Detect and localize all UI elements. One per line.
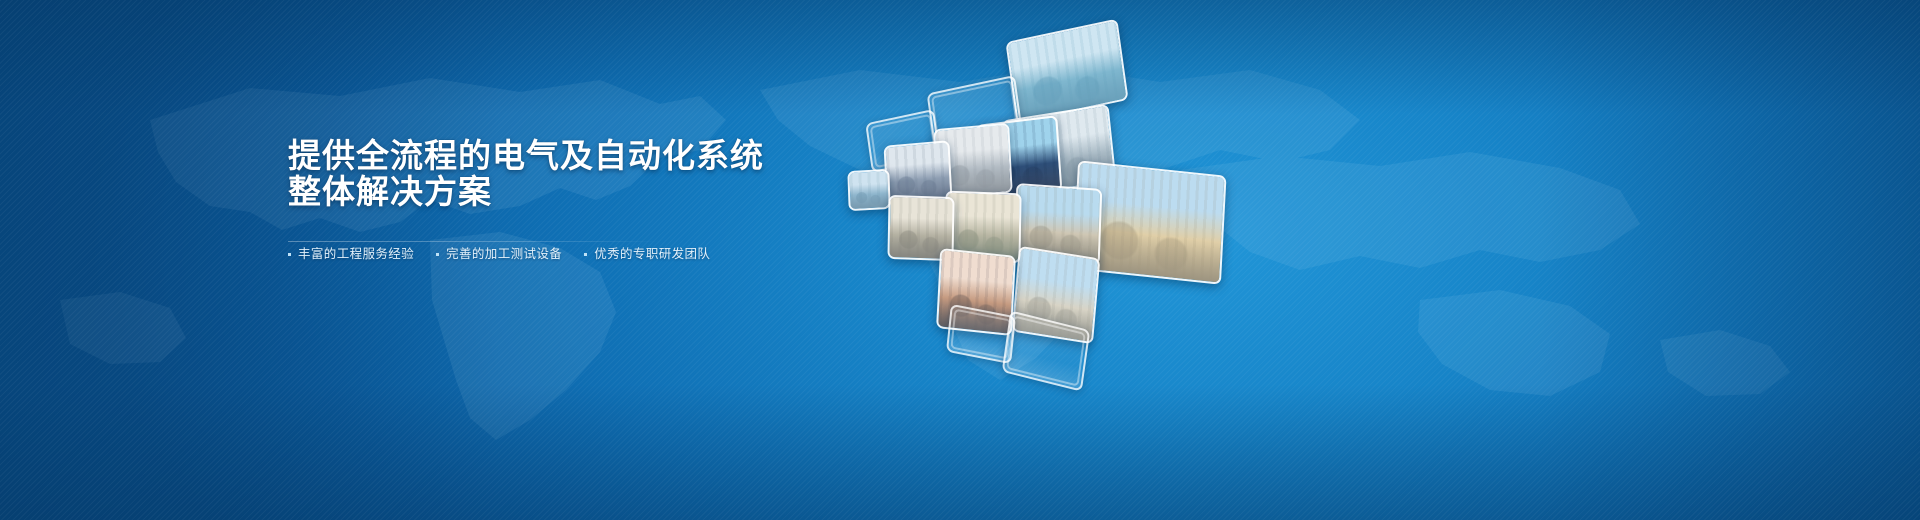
feature-item: 优秀的专职研发团队 — [584, 246, 710, 262]
bullet-dot-icon — [288, 253, 291, 256]
page-title: 提供全流程的电气及自动化系统 整体解决方案 — [288, 138, 848, 210]
collage-tile-transmission-tower — [847, 169, 890, 211]
tile-photo-texture — [849, 171, 888, 209]
tile-empty-surface — [1006, 315, 1086, 386]
tile-empty-surface — [950, 309, 1011, 360]
headline-line-1: 提供全流程的电气及自动化系统 — [288, 138, 848, 174]
tile-photo — [1008, 21, 1127, 121]
feature-item: 完善的加工测试设备 — [436, 246, 562, 262]
feature-label: 完善的加工测试设备 — [446, 246, 562, 262]
headline-block: 提供全流程的电气及自动化系统 整体解决方案 — [288, 138, 848, 210]
feature-item: 丰富的工程服务经验 — [288, 246, 414, 262]
hero-banner: 提供全流程的电气及自动化系统 整体解决方案 丰富的工程服务经验完善的加工测试设备… — [0, 0, 1920, 520]
bullet-dot-icon — [436, 253, 439, 256]
collage-tile-wind-farm — [1005, 19, 1128, 124]
divider — [288, 241, 660, 242]
feature-label: 丰富的工程服务经验 — [298, 246, 414, 262]
image-collage — [830, 0, 1330, 420]
feature-list: 丰富的工程服务经验完善的加工测试设备优秀的专职研发团队 — [288, 246, 710, 262]
headline-line-2: 整体解决方案 — [288, 174, 848, 210]
bullet-dot-icon — [584, 253, 587, 256]
feature-label: 优秀的专职研发团队 — [594, 246, 710, 262]
tile-photo — [849, 171, 888, 209]
tile-photo-texture — [1008, 21, 1127, 121]
